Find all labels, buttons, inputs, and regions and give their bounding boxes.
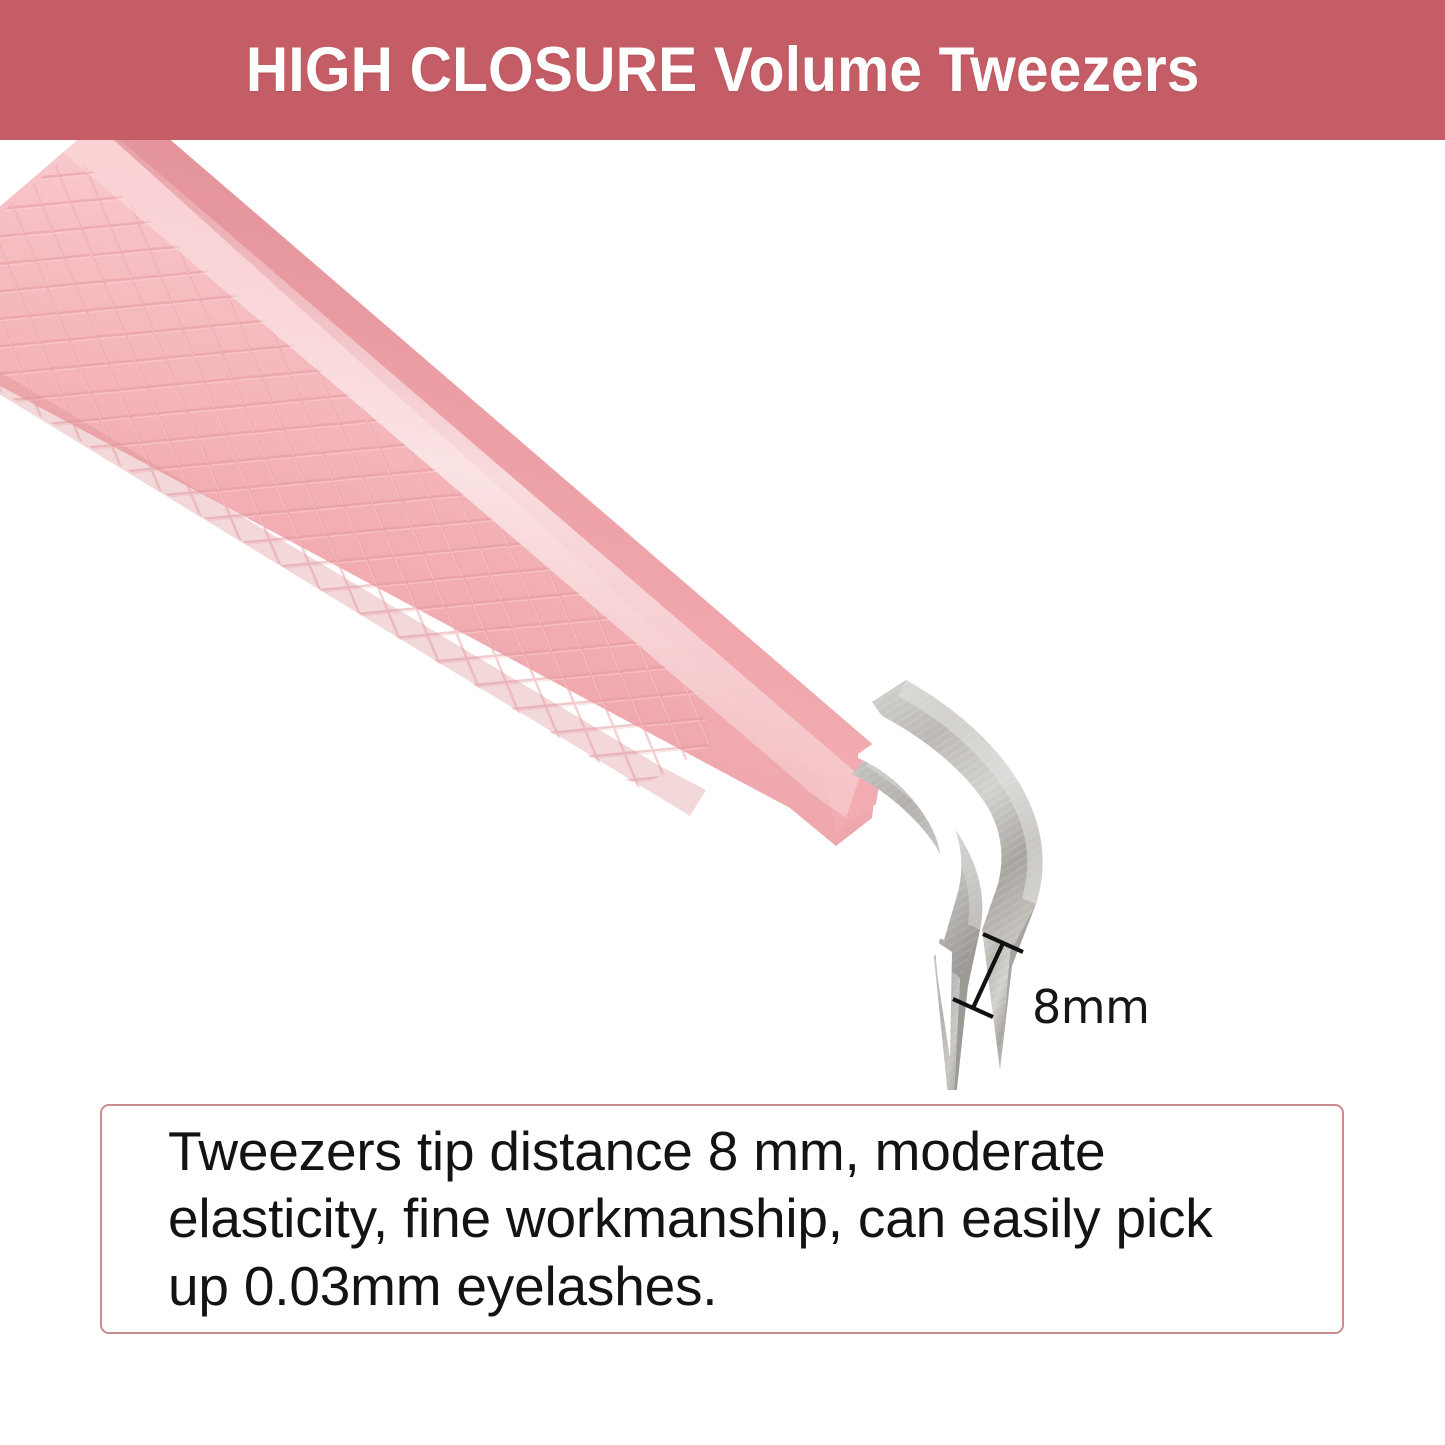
product-feature-image: HIGH CLOSURE Volume Tweezers [0, 0, 1445, 1445]
caption-text: Tweezers tip distance 8 mm, moderate ela… [102, 1118, 1342, 1319]
tweezers-illustration [0, 140, 1445, 1090]
caption-box: Tweezers tip distance 8 mm, moderate ela… [100, 1104, 1344, 1334]
header-banner: HIGH CLOSURE Volume Tweezers [0, 0, 1445, 140]
rear-blade-tip-brush [982, 930, 1010, 1070]
page-title: HIGH CLOSURE Volume Tweezers [246, 39, 1200, 102]
product-photo-stage [0, 140, 1445, 1090]
dimension-value-label: 8mm [1032, 984, 1149, 1030]
